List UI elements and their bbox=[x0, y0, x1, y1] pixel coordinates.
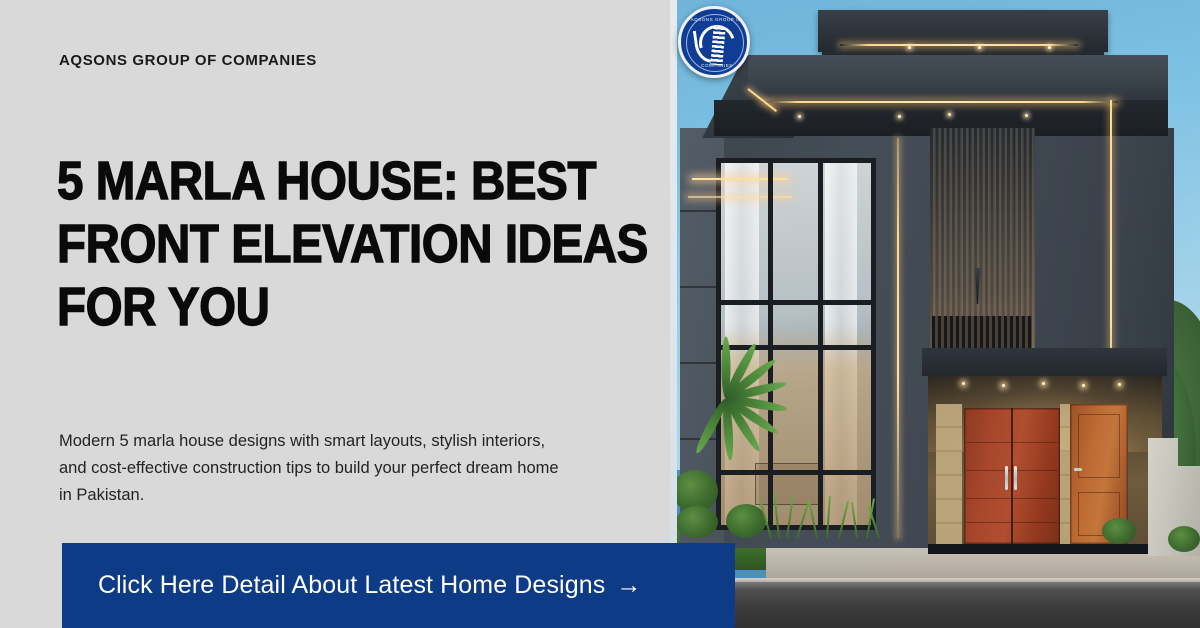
window-mullion-horizontal bbox=[721, 300, 871, 305]
door-handle-icon bbox=[1005, 466, 1008, 490]
shrub bbox=[1102, 518, 1136, 544]
main-canopy-slab bbox=[748, 55, 1168, 103]
door-side-panel-inset bbox=[1078, 414, 1120, 478]
downlight-icon bbox=[908, 46, 911, 49]
logo-text-top: AQSONS GROUP OF bbox=[681, 17, 750, 22]
shrub bbox=[676, 506, 718, 538]
logo-text-bottom: COMPANIES bbox=[681, 63, 750, 68]
porch-header-beam bbox=[922, 348, 1167, 376]
headline-line-2: FRONT ELEVATION IDEAS bbox=[57, 213, 585, 276]
photo-contents bbox=[670, 0, 1200, 628]
headline-line-1: 5 MARLA HOUSE: BEST bbox=[57, 150, 585, 213]
door-panel-line bbox=[966, 498, 1058, 499]
door-panel-line bbox=[966, 470, 1058, 471]
door-center-split bbox=[1011, 408, 1013, 544]
downlight-icon bbox=[948, 113, 951, 116]
interior-ceiling-led bbox=[688, 196, 792, 198]
vertical-led-strip-middle bbox=[897, 138, 899, 538]
text-panel: AQSONS GROUP OF COMPANIES 5 MARLA HOUSE:… bbox=[0, 0, 670, 628]
house-front-elevation-photo: AQSONS GROUP OF COMPANIES bbox=[670, 0, 1200, 628]
roof-led-strip bbox=[840, 44, 1078, 46]
aqsons-tower-logo-icon: AQSONS GROUP OF COMPANIES bbox=[678, 6, 750, 78]
stone-cladding-right bbox=[1060, 404, 1070, 544]
door-threshold bbox=[928, 544, 1162, 554]
downlight-icon bbox=[1048, 46, 1051, 49]
page-title: 5 MARLA HOUSE: BEST FRONT ELEVATION IDEA… bbox=[57, 150, 585, 339]
photo-left-edge-strip bbox=[670, 0, 677, 628]
headline-line-3: FOR YOU bbox=[57, 276, 585, 339]
canopy-led-strip bbox=[762, 101, 1118, 103]
door-handle-icon bbox=[1014, 466, 1017, 490]
shrub bbox=[1168, 526, 1200, 552]
cta-button-label: Click Here Detail About Latest Home Desi… bbox=[98, 571, 605, 600]
downlight-icon bbox=[1025, 114, 1028, 117]
downlight-icon bbox=[978, 46, 981, 49]
palm-frond bbox=[722, 337, 731, 399]
shrub bbox=[726, 504, 766, 538]
side-door-handle-icon bbox=[1074, 468, 1082, 471]
interior-ceiling-led bbox=[692, 178, 788, 180]
stone-cladding-left bbox=[936, 404, 962, 544]
downlight-icon bbox=[798, 115, 801, 118]
description-text: Modern 5 marla house designs with smart … bbox=[59, 428, 559, 509]
street-road bbox=[670, 582, 1200, 628]
brand-eyebrow: AQSONS GROUP OF COMPANIES bbox=[59, 52, 317, 69]
door-panel-line bbox=[966, 442, 1058, 443]
promotional-banner: AQSONS GROUP OF COMPANIES 5 MARLA HOUSE:… bbox=[0, 0, 1200, 628]
downlight-icon bbox=[898, 115, 901, 118]
cta-button[interactable]: Click Here Detail About Latest Home Desi… bbox=[62, 543, 735, 628]
arrow-right-icon: → bbox=[616, 573, 641, 598]
balcony-rail-slats bbox=[932, 316, 1032, 350]
door-panel-line bbox=[966, 522, 1058, 523]
